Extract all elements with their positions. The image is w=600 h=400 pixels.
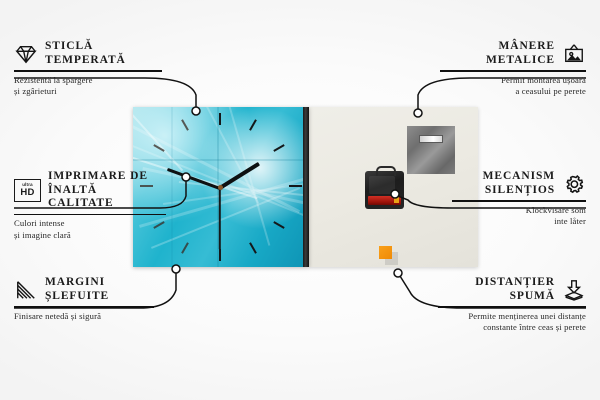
- feature-title: MECANISM SILENȚIOS: [483, 170, 555, 197]
- infographic-canvas: STICLĂ TEMPERATĂ Rezistentă la spargere …: [0, 0, 600, 400]
- divider: [14, 306, 154, 308]
- feature-metal-hangers: MÂNERE METALICE Permit montarea ușoară a…: [440, 40, 586, 97]
- feature-subtitle: Culori intense și imagine clară: [14, 218, 166, 241]
- feature-subtitle: Permite menținerea unei distanțe constan…: [438, 311, 586, 334]
- mechanism-bail: [376, 166, 396, 176]
- divider: [14, 214, 166, 216]
- feature-tempered-glass: STICLĂ TEMPERATĂ Rezistentă la spargere …: [14, 40, 162, 97]
- feature-subtitle: Klockvisare som inte låter: [452, 205, 586, 228]
- battery: [368, 196, 401, 205]
- product-photo: [133, 107, 478, 267]
- divider: [14, 70, 162, 72]
- feature-header: STICLĂ TEMPERATĂ: [14, 40, 162, 67]
- feature-header: MÂNERE METALICE: [440, 40, 586, 67]
- hour-hand: [219, 162, 260, 190]
- polished-edge-icon: [14, 279, 38, 301]
- diamond-icon: [14, 43, 38, 65]
- divider: [452, 200, 586, 202]
- gear-icon: [562, 173, 586, 195]
- second-hand: [219, 188, 221, 250]
- feature-header: MECANISM SILENȚIOS: [452, 170, 586, 197]
- clock-glass-edge: [303, 107, 309, 267]
- feature-silent-mechanism: MECANISM SILENȚIOS Klockvisare som inte …: [452, 170, 586, 227]
- feature-header: MARGINI ȘLEFUITE: [14, 276, 154, 303]
- ultra-hd-icon-bottom: HD: [20, 188, 34, 198]
- clock-hub: [218, 185, 223, 190]
- divider: [440, 70, 586, 72]
- leader-dot-6: [394, 269, 402, 277]
- feature-header: ultra HD IMPRIMARE DE ÎNALTĂ CALITATE: [14, 170, 166, 211]
- clock-mechanism: [365, 171, 404, 209]
- feature-title: STICLĂ TEMPERATĂ: [45, 40, 126, 67]
- feature-title: MÂNERE METALICE: [486, 40, 555, 67]
- feature-polished-edges: MARGINI ȘLEFUITE Finisare netedă și sigu…: [14, 276, 154, 322]
- metal-hanger-plate: [407, 126, 455, 174]
- minute-hand: [167, 168, 221, 190]
- feature-subtitle: Permit montarea ușoară a ceasului pe per…: [440, 75, 586, 98]
- feature-title: IMPRIMARE DE ÎNALTĂ CALITATE: [48, 170, 166, 211]
- ultra-hd-icon: ultra HD: [14, 179, 41, 202]
- hanger-slot: [419, 135, 443, 143]
- feature-title: DISTANȚIER SPUMĂ: [475, 276, 555, 303]
- picture-hanger-icon: [562, 43, 586, 65]
- feature-foam-spacer: DISTANȚIER SPUMĂ Permite menținerea unei…: [438, 276, 586, 333]
- foam-spacer: [379, 246, 392, 259]
- foam-spacer-icon: [562, 279, 586, 301]
- feature-header: DISTANȚIER SPUMĂ: [438, 276, 586, 303]
- feature-title: MARGINI ȘLEFUITE: [45, 276, 109, 303]
- mechanism-highlight: [369, 176, 395, 194]
- feature-subtitle: Rezistentă la spargere și zgârieturi: [14, 75, 162, 98]
- divider: [438, 306, 586, 308]
- feature-hd-print: ultra HD IMPRIMARE DE ÎNALTĂ CALITATE Cu…: [14, 170, 166, 241]
- feature-subtitle: Finisare netedă și sigură: [14, 311, 154, 322]
